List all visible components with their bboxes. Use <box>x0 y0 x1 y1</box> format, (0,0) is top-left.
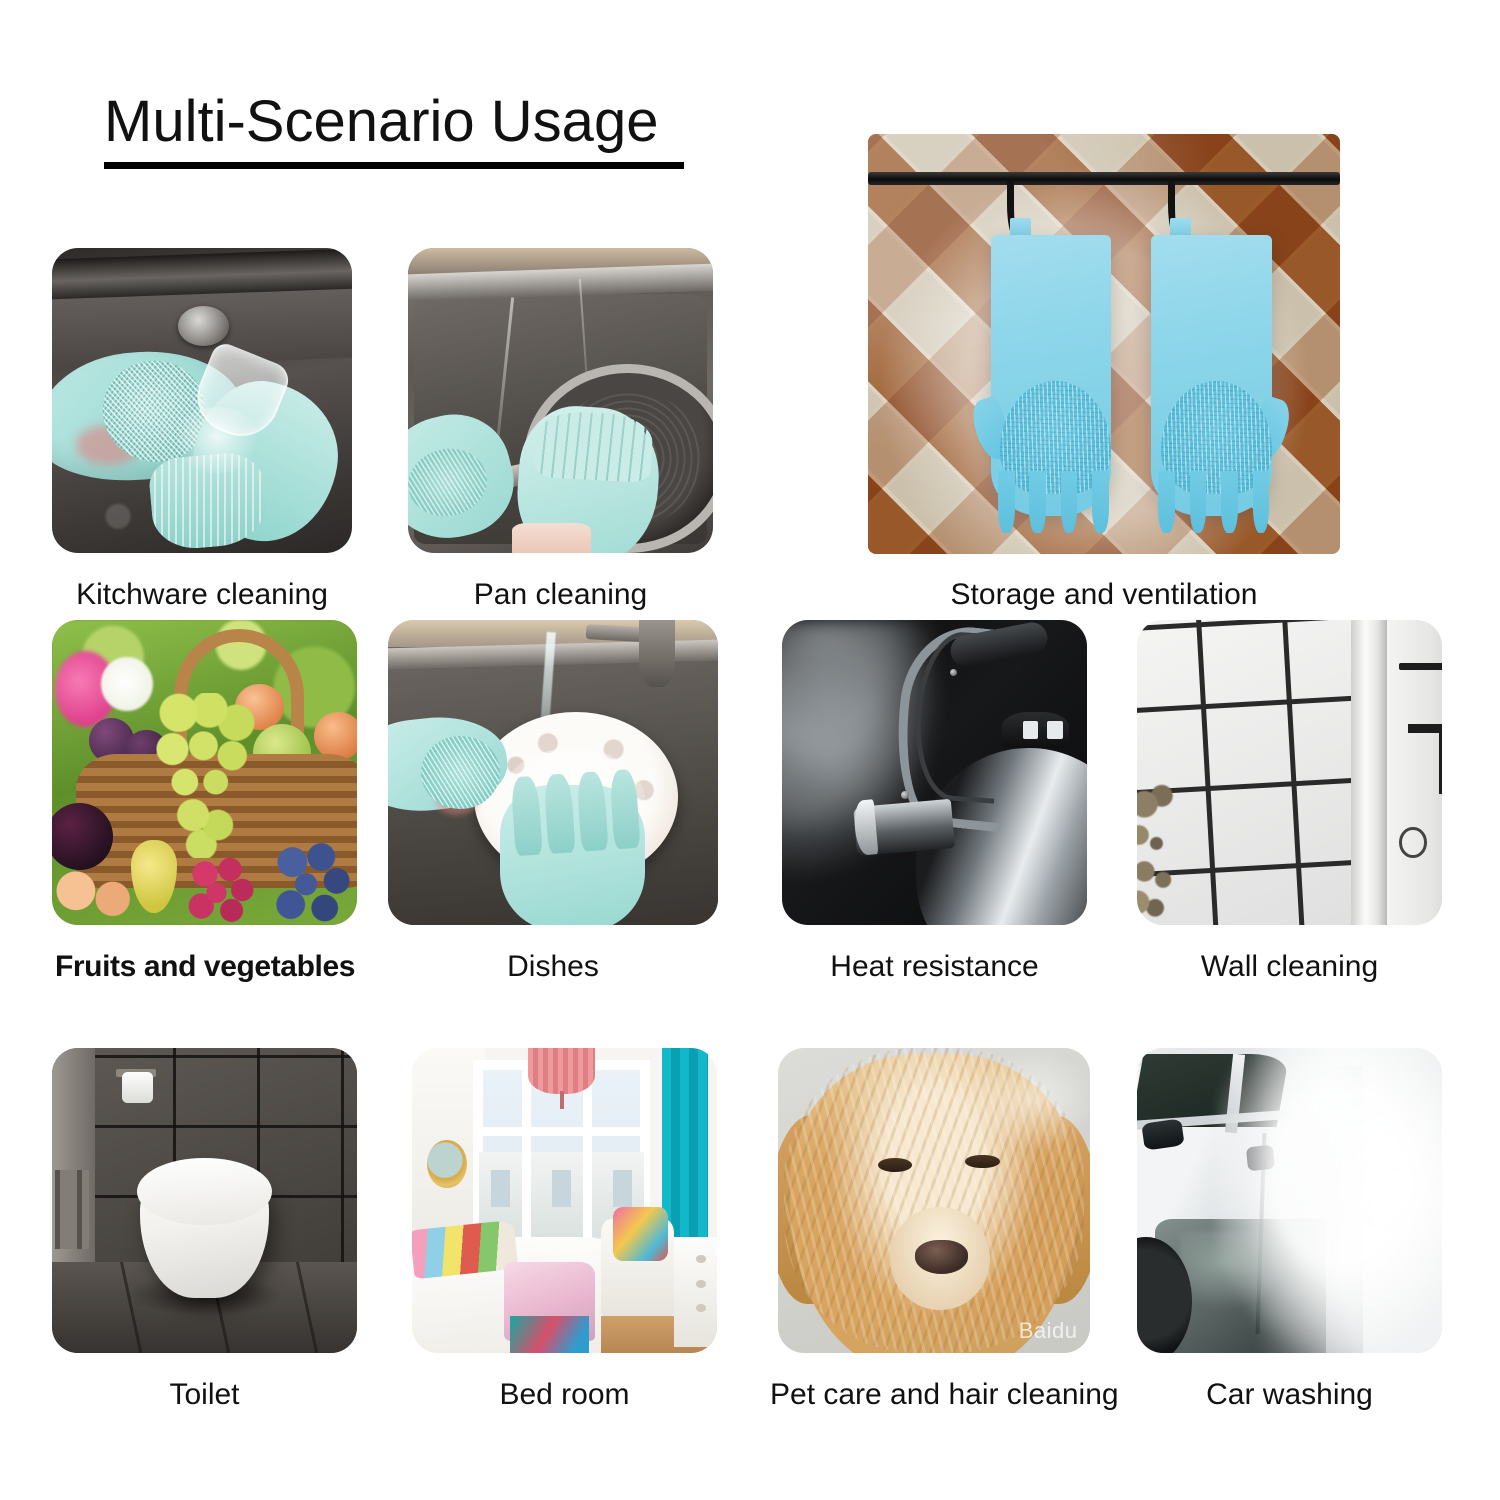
raspberries <box>186 852 262 925</box>
soap-foam <box>172 407 262 474</box>
caption-heat: Heat resistance <box>782 952 1087 982</box>
pendant-lamp <box>528 1048 595 1094</box>
wall-dirt-stain <box>1137 779 1198 919</box>
glove-fingers <box>511 768 642 856</box>
kettle-rivet <box>901 791 909 799</box>
silicone-glove-right <box>1151 235 1271 516</box>
caption-storage: Storage and ventilation <box>868 580 1340 610</box>
glove-bristle-patch <box>421 736 500 809</box>
glove-finger <box>1190 471 1207 533</box>
photo-bed-room <box>412 1048 717 1353</box>
silicone-glove-left <box>991 235 1111 516</box>
caption-pet: Pet care and hair cleaning <box>770 1380 1100 1410</box>
chair-throw-blanket <box>613 1207 668 1262</box>
glove-finger <box>1221 471 1238 533</box>
window-mullion <box>522 1060 531 1249</box>
appliance-slot <box>1399 663 1442 671</box>
photo-dishes <box>388 620 718 925</box>
panel-pan-image <box>408 248 713 553</box>
wall-column <box>1351 620 1388 925</box>
view-window <box>613 1170 631 1207</box>
green-grapes <box>156 693 260 858</box>
glove-finger <box>1158 471 1175 533</box>
photo-pet-care: Baidu <box>778 1048 1090 1353</box>
photo-fruits-and-vegetables <box>52 620 357 925</box>
appliance-button <box>1399 827 1426 857</box>
dog-eye-right <box>965 1155 999 1169</box>
water-highlight <box>971 1048 1090 1152</box>
panel-heat-image <box>782 620 1087 925</box>
watermark: Baidu <box>1019 1318 1078 1344</box>
peaches-foreground <box>52 864 144 925</box>
title-underline <box>104 162 684 169</box>
window-transom <box>473 1127 650 1136</box>
sunburst-mirror <box>427 1140 467 1189</box>
glove-finger <box>1029 471 1046 533</box>
photo-toilet <box>52 1048 357 1353</box>
panel-wall-image <box>1137 620 1442 925</box>
infographic-page: Multi-Scenario Usage Kitchware cleaning <box>0 0 1500 1500</box>
wrist-skin <box>512 523 591 554</box>
caption-kitchware: Kitchware cleaning <box>52 580 352 610</box>
glove-finger <box>998 471 1015 533</box>
caption-pan: Pan cleaning <box>408 580 713 610</box>
dresser <box>674 1237 717 1347</box>
glove-finger <box>576 771 608 852</box>
page-title-block: Multi-Scenario Usage <box>104 92 684 169</box>
hanging-rod <box>868 172 1340 185</box>
water-spray <box>1216 1048 1442 1353</box>
caption-bedroom: Bed room <box>412 1380 717 1410</box>
glove-finger <box>1092 471 1109 533</box>
patterned-blanket <box>510 1316 589 1353</box>
toilet-seat-lid <box>137 1158 271 1225</box>
glove-fingers <box>1158 471 1269 533</box>
page-title: Multi-Scenario Usage <box>104 92 684 153</box>
panel-pet-image: Baidu <box>778 1048 1090 1353</box>
panel-storage-image <box>868 134 1340 554</box>
photo-storage-and-ventilation <box>868 134 1340 554</box>
glove-fingers <box>534 410 653 483</box>
peach <box>314 712 357 761</box>
panel-toilet-image <box>52 1048 357 1353</box>
photo-pan-cleaning <box>408 248 713 553</box>
glove-finger <box>1061 471 1078 533</box>
panel-bedroom-image <box>412 1048 717 1353</box>
panel-fruits-image <box>52 620 357 925</box>
caption-wall: Wall cleaning <box>1137 952 1442 982</box>
glove-finger <box>544 773 576 854</box>
kettle-lid-knob <box>1023 721 1038 739</box>
caption-car: Car washing <box>1137 1380 1442 1410</box>
caption-fruits: Fruits and vegetables <box>45 952 365 982</box>
panel-kitchware-image <box>52 248 352 553</box>
lamp-cord <box>560 1091 564 1109</box>
dog-nose <box>915 1240 968 1274</box>
faucet-body <box>639 620 675 687</box>
appliance-hook-icon <box>1408 724 1442 794</box>
panel-car-image <box>1137 1048 1442 1353</box>
glove-finger <box>511 775 543 856</box>
photo-heat-resistance <box>782 620 1087 925</box>
sink-drain <box>178 306 229 346</box>
glove-finger <box>1253 471 1270 533</box>
view-window <box>491 1170 509 1207</box>
white-flowers <box>101 657 153 712</box>
caption-toilet: Toilet <box>52 1380 357 1410</box>
photo-wall-cleaning <box>1137 620 1442 925</box>
side-wall-panel <box>55 1170 89 1249</box>
caption-dishes: Dishes <box>388 952 718 982</box>
glove-fingers <box>998 471 1109 533</box>
blueberries <box>272 840 357 925</box>
photo-car-washing <box>1137 1048 1442 1353</box>
view-window <box>552 1170 570 1207</box>
dog-eye-left <box>878 1158 912 1172</box>
toilet-paper-roll <box>122 1072 153 1103</box>
photo-kitchware-cleaning <box>52 248 352 553</box>
dresser-handle <box>696 1280 707 1288</box>
panel-dishes-image <box>388 620 718 925</box>
kettle-lid-knob <box>1047 721 1062 739</box>
